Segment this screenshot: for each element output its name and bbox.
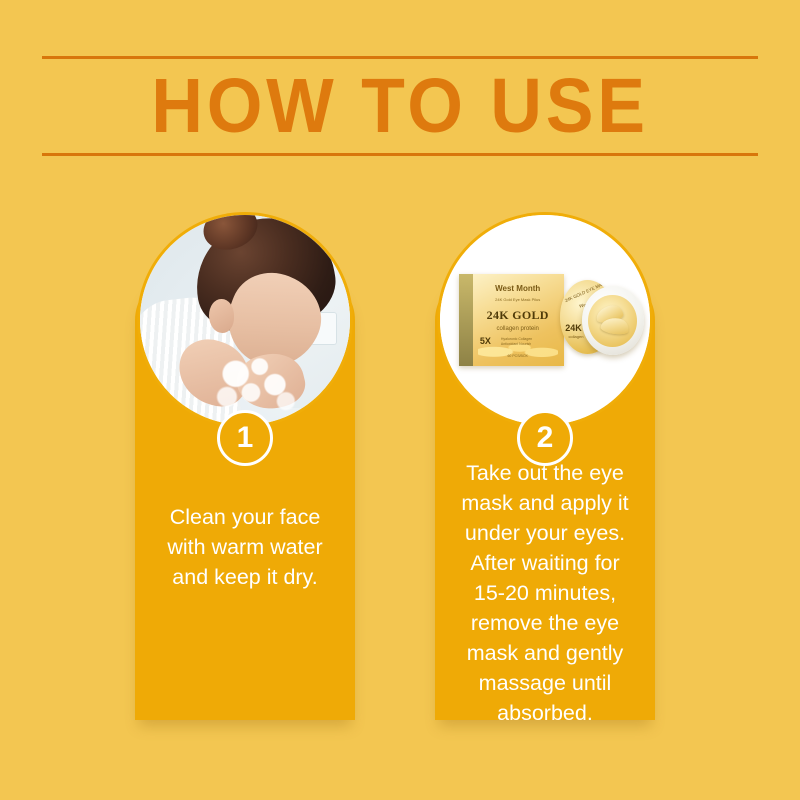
product-jar: 24K GOLD EYE MASK West M 5X 24K collagen <box>560 278 644 362</box>
step-1-badge: 1 <box>217 410 273 466</box>
product-jar-base <box>582 286 644 355</box>
step-2-text: Take out the eye mask and apply it under… <box>443 458 647 728</box>
washing-face-illustration <box>140 215 350 425</box>
step-2-photo: West Month 24K Gold Eye Mask Pilus 24K G… <box>440 215 650 425</box>
step-1-text: Clean your face with warm water and keep… <box>143 502 347 592</box>
product-box-collagen: collagen protein <box>475 326 561 332</box>
step-card-1: 1 Clean your face with warm water and ke… <box>135 250 355 720</box>
product-box-side-panel <box>459 274 473 366</box>
header-block: HOW TO USE <box>42 56 758 156</box>
ear <box>209 299 234 333</box>
jar-contents <box>588 295 636 347</box>
product-box-subtitle: 24K Gold Eye Mask Pilus <box>475 298 561 302</box>
jar-lid-collagen: collagen <box>569 334 584 339</box>
product-box-features: Hyaluronic Collagen Antioxidant Nourish <box>501 337 561 348</box>
step-card-2: West Month 24K Gold Eye Mask Pilus 24K G… <box>435 250 655 720</box>
product-box-footer: 60 PCS/BOX <box>475 355 561 359</box>
product-illustration: West Month 24K Gold Eye Mask Pilus 24K G… <box>440 215 650 425</box>
title-rule-top <box>42 56 758 59</box>
poster-canvas: HOW TO USE 1 Clean your face with warm w… <box>0 0 800 800</box>
product-box-brand: West Month <box>475 285 561 293</box>
title-rule-bottom <box>42 153 758 156</box>
product-box: West Month 24K Gold Eye Mask Pilus 24K G… <box>459 274 564 366</box>
product-box-name: 24K GOLD <box>475 309 561 321</box>
step-1-photo <box>140 215 350 425</box>
water-splash <box>203 345 312 416</box>
page-title: HOW TO USE <box>67 62 733 150</box>
jar-lid-gold: 24K <box>565 323 582 333</box>
